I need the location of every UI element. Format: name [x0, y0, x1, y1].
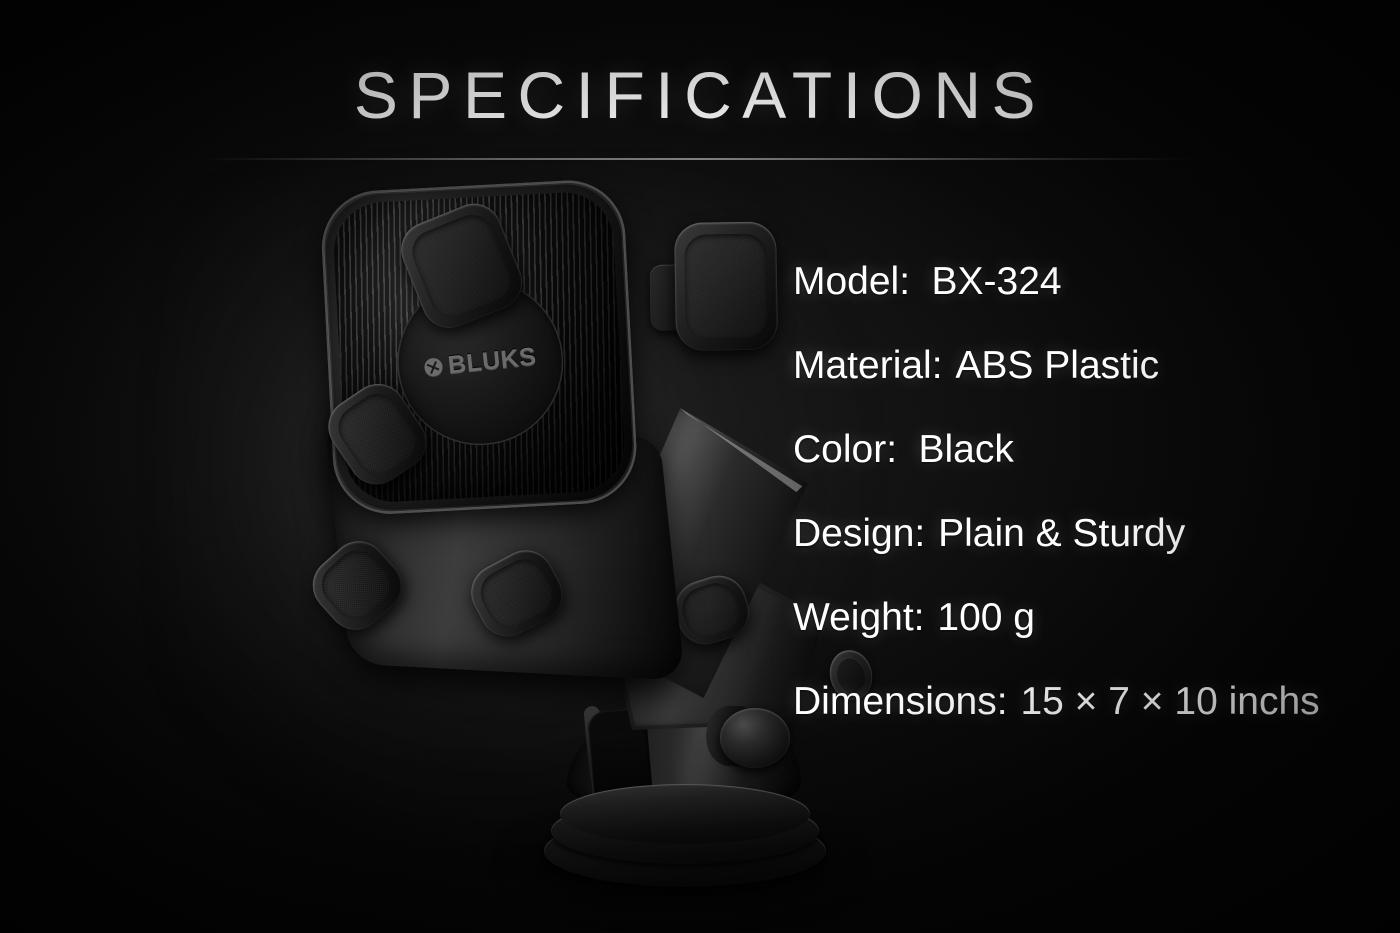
page-title: SPECIFICATIONS	[0, 62, 1400, 128]
brand-logo-text: BLUKS	[447, 342, 538, 380]
bluks-star-icon	[423, 357, 443, 377]
spec-label: Weight:	[793, 598, 925, 639]
title-divider	[200, 158, 1200, 160]
product-grip-pad-inner	[684, 234, 768, 339]
spec-label: Color:	[793, 430, 897, 471]
product-cradle: BLUKS	[239, 132, 744, 688]
spec-row: Weight:100 g	[793, 598, 1383, 682]
spec-value: Black	[918, 430, 1013, 471]
spec-value: 15 × 7 × 10 inchs	[1020, 682, 1319, 723]
spec-value: 100 g	[937, 598, 1035, 639]
specifications-page: BLUKS SPEC	[0, 0, 1400, 933]
product-ball-joint	[720, 708, 790, 768]
spec-row: Dimensions:15 × 7 × 10 inchs	[793, 682, 1383, 766]
product-suction-ring-inner	[560, 784, 810, 844]
spec-label: Dimensions:	[793, 682, 1008, 723]
spec-row: Design:Plain & Sturdy	[793, 514, 1383, 598]
spec-label: Design:	[793, 514, 925, 555]
spec-value: Plain & Sturdy	[938, 514, 1185, 555]
spec-value: BX-324	[932, 262, 1062, 303]
spec-label: Material:	[793, 346, 943, 387]
specifications-list: Model:BX-324Material:ABS PlasticColor:Bl…	[793, 262, 1383, 766]
spec-row: Color:Black	[793, 430, 1383, 514]
product-image-car-phone-holder: BLUKS	[120, 150, 910, 910]
spec-value: ABS Plastic	[955, 346, 1159, 387]
spec-label: Model:	[793, 262, 910, 303]
spec-row: Material:ABS Plastic	[793, 346, 1383, 430]
spec-row: Model:BX-324	[793, 262, 1383, 346]
